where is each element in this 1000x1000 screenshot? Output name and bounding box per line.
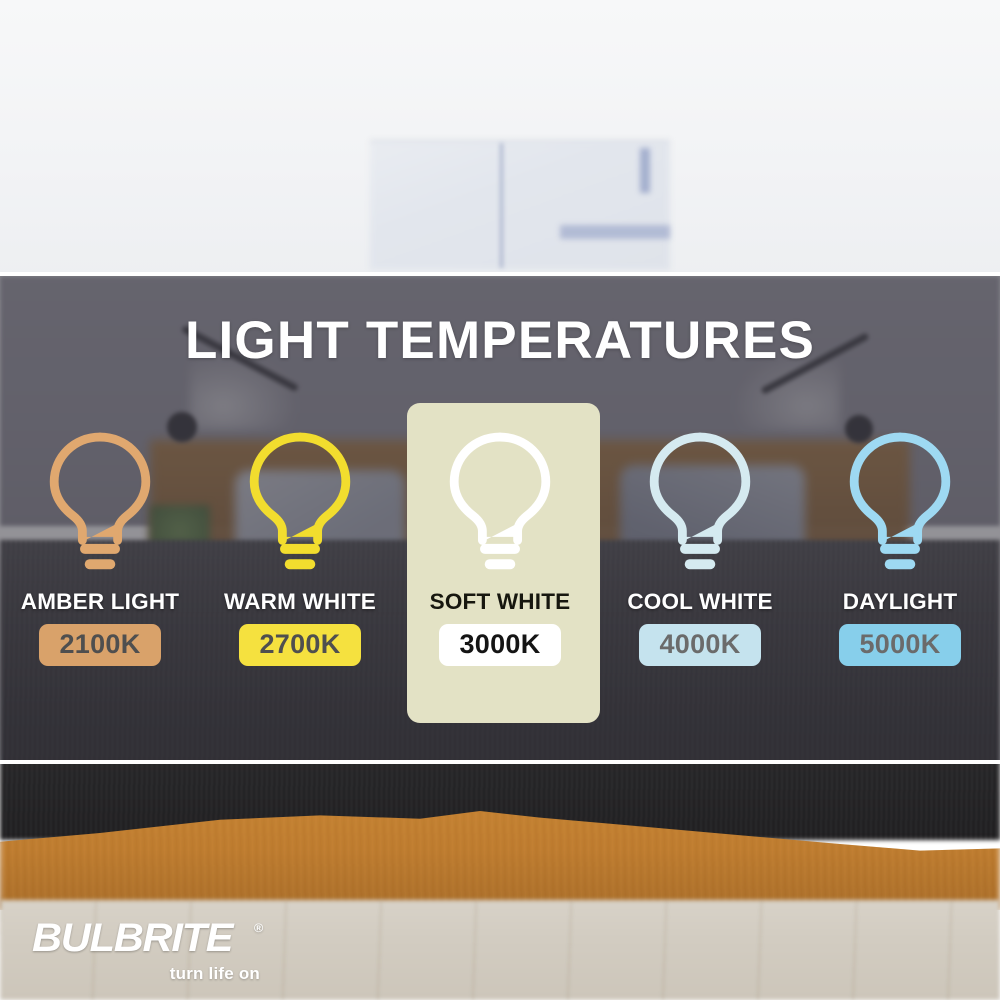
wall-art-detail xyxy=(500,143,503,268)
temperature-item-soft-white[interactable]: SOFT WHITE 3000K xyxy=(400,403,600,723)
temperature-item-amber-light[interactable]: AMBER LIGHT 2100K xyxy=(0,403,200,723)
brand-logo: BULBRITE ® turn life on xyxy=(32,918,262,982)
temperature-label: SOFT WHITE xyxy=(430,589,571,615)
kelvin-badge: 3000K xyxy=(439,624,561,666)
light-bulb-icon xyxy=(240,429,360,579)
wall-art-detail xyxy=(560,225,670,239)
temperature-item-warm-white[interactable]: WARM WHITE 2700K xyxy=(200,403,400,723)
kelvin-badge: 2100K xyxy=(39,624,161,666)
light-bulb-icon xyxy=(840,429,960,579)
temperature-label: AMBER LIGHT xyxy=(21,589,179,615)
temperature-label: COOL WHITE xyxy=(627,589,772,615)
temperature-item-daylight[interactable]: DAYLIGHT 5000K xyxy=(800,403,1000,723)
infographic-stage: LIGHT TEMPERATURES AMBER LIG xyxy=(0,0,1000,1000)
wall-art-frame xyxy=(370,140,670,270)
temperature-label: WARM WHITE xyxy=(224,589,376,615)
light-bulb-icon xyxy=(440,429,560,579)
brand-tagline: turn life on xyxy=(32,965,262,982)
temperature-list: AMBER LIGHT 2100K WARM WHITE xyxy=(0,403,1000,723)
registered-trademark-icon: ® xyxy=(254,922,274,934)
page-title: LIGHT TEMPERATURES xyxy=(0,312,1000,370)
kelvin-badge: 2700K xyxy=(239,624,361,666)
brand-wordmark: BULBRITE xyxy=(32,918,232,958)
kelvin-badge: 4000K xyxy=(639,624,761,666)
temperature-label: DAYLIGHT xyxy=(843,589,958,615)
light-bulb-icon xyxy=(640,429,760,579)
kelvin-badge: 5000K xyxy=(839,624,961,666)
temperature-item-cool-white[interactable]: COOL WHITE 4000K xyxy=(600,403,800,723)
wall-art-detail xyxy=(640,148,650,193)
band-divider-top xyxy=(0,272,1000,276)
band-divider-bottom xyxy=(0,760,1000,764)
light-bulb-icon xyxy=(40,429,160,579)
